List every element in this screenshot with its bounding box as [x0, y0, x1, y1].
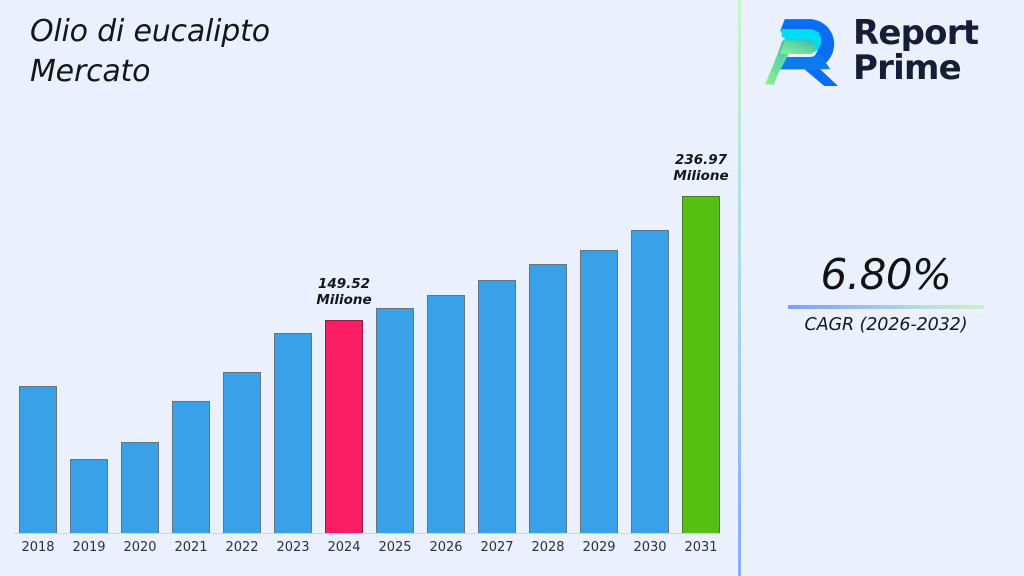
x-axis-tick-2028: 2028 — [520, 540, 576, 555]
brand-name: Report Prime — [853, 16, 978, 87]
chart-panel: Olio di eucalipto Mercato 20182019202020… — [0, 0, 738, 576]
report-prime-r-logo-icon — [765, 14, 841, 88]
bar-2018 — [19, 386, 57, 533]
x-axis-tick-2023: 2023 — [265, 540, 321, 555]
cagr-value: 6.80% — [771, 252, 1001, 298]
bar-2022 — [223, 372, 261, 533]
brand-panel: Report Prime 6.80% CAGR (2026-2032) — [741, 0, 1024, 576]
bar-value-label-2024: 149.52 Milione — [289, 276, 399, 309]
cagr-divider-rule — [788, 305, 984, 309]
bar-2027 — [478, 280, 516, 533]
x-axis-tick-2027: 2027 — [469, 540, 525, 555]
x-axis-tick-2022: 2022 — [214, 540, 270, 555]
x-axis-line — [14, 533, 720, 534]
bar-2020 — [121, 442, 159, 533]
bar-chart-plot-area: 201820192020202120222023149.52 Milione20… — [0, 0, 738, 576]
x-axis-tick-2020: 2020 — [112, 540, 168, 555]
cagr-block: 6.80% CAGR (2026-2032) — [771, 252, 1001, 335]
bar-2019 — [70, 459, 108, 533]
bar-2028 — [529, 264, 567, 533]
x-axis-tick-2026: 2026 — [418, 540, 474, 555]
cagr-label: CAGR (2026-2032) — [771, 315, 1001, 335]
x-axis-tick-2025: 2025 — [367, 540, 423, 555]
bar-2029 — [580, 250, 618, 533]
brand-logo: Report Prime — [765, 14, 978, 88]
x-axis-tick-2024: 2024 — [316, 540, 372, 555]
x-axis-tick-2030: 2030 — [622, 540, 678, 555]
bar-2026 — [427, 295, 465, 533]
bar-2024 — [325, 320, 363, 533]
x-axis-tick-2018: 2018 — [10, 540, 66, 555]
x-axis-tick-2019: 2019 — [61, 540, 117, 555]
infographic-root: Olio di eucalipto Mercato 20182019202020… — [0, 0, 1024, 576]
bar-2023 — [274, 333, 312, 533]
bar-2030 — [631, 230, 669, 533]
x-axis-tick-2021: 2021 — [163, 540, 219, 555]
x-axis-tick-2031: 2031 — [673, 540, 729, 555]
bar-2031 — [682, 196, 720, 533]
bar-2021 — [172, 401, 210, 533]
bar-2025 — [376, 308, 414, 533]
x-axis-tick-2029: 2029 — [571, 540, 627, 555]
